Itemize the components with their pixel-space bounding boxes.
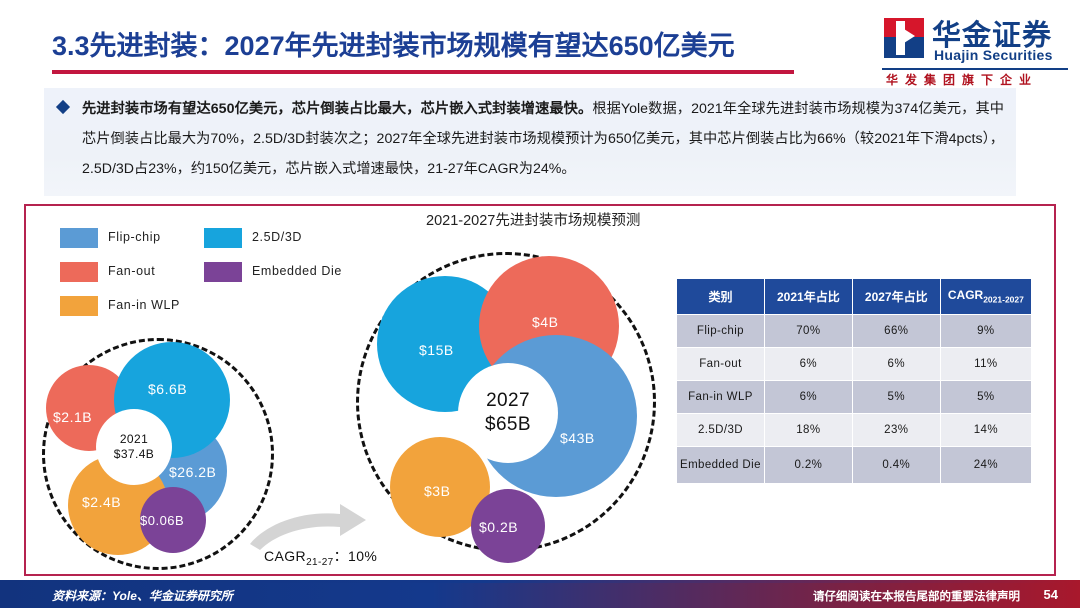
footer-bar: 资料来源：Yole、华金证券研究所 请仔细阅读在本报告尾部的重要法律声明 54 — [0, 583, 1080, 608]
bubble-label-2027-fan-out: $4B — [532, 314, 558, 330]
huajin-logo-mark-icon — [884, 18, 924, 58]
cell-share-2021: 6% — [764, 348, 852, 381]
cagr-value: ：10% — [334, 548, 378, 564]
cell-cagr: 11% — [940, 348, 1031, 381]
bubble-label-2027-embedded-die: $0.2B — [479, 519, 518, 535]
bubble-label-2021-flip-chip: $26.2B — [169, 464, 216, 480]
table-col-share-2027: 2027年占比 — [852, 279, 940, 315]
bubble-label-2027-fan-in-wlp: $3B — [424, 483, 450, 499]
cell-share-2021: 0.2% — [764, 447, 852, 484]
table-row: Flip-chip 70% 66% 9% — [677, 315, 1032, 348]
summary-paragraph: 先进封装市场有望达650亿美元，芯片倒装占比最大，芯片嵌入式封装增速最快。根据Y… — [82, 94, 1004, 184]
page-title: 3.3先进封装：2027年先进封装市场规模有望达650亿美元 — [52, 24, 735, 63]
table-row: Fan-out 6% 6% 11% — [677, 348, 1032, 381]
cell-share-2027: 23% — [852, 414, 940, 447]
bubble-2027-year: 2027 — [486, 389, 530, 413]
bubble-2027-total: 2027 $65B — [458, 363, 558, 463]
cagr-annotation: CAGR21-27：10% — [264, 546, 377, 568]
bubble-2021-year: 2021 — [120, 432, 148, 447]
table-row: Embedded Die 0.2% 0.4% 24% — [677, 447, 1032, 484]
legend-label-fan-out: Fan-out — [108, 264, 155, 278]
cell-cagr: 24% — [940, 447, 1031, 484]
legend-swatch-fan-in-wlp — [60, 296, 98, 316]
summary-text-block: 先进封装市场有望达650亿美元，芯片倒装占比最大，芯片嵌入式封装增速最快。根据Y… — [44, 88, 1016, 196]
cell-share-2027: 66% — [852, 315, 940, 348]
legend-label-flip-chip: Flip-chip — [108, 230, 161, 244]
cell-share-2021: 6% — [764, 381, 852, 414]
bubble-label-2027-flip-chip: $43B — [560, 430, 595, 446]
cagr-subscript: 21-27 — [306, 557, 334, 568]
cell-cagr: 14% — [940, 414, 1031, 447]
logo-tagline: 华发集团旗下企业 — [886, 71, 1038, 88]
share-cagr-table: 类别 2021年占比 2027年占比 CAGR2021-2027 Flip-ch… — [676, 278, 1032, 484]
footer-legal-note: 请仔细阅读在本报告尾部的重要法律声明 — [813, 588, 1020, 604]
table-col-cagr-prefix: CAGR — [948, 288, 983, 302]
bubble-2027-total-label: $65B — [485, 413, 531, 437]
logo-company-name-en: Huajin Securities — [934, 47, 1053, 63]
cell-category: Fan-in WLP — [677, 381, 765, 414]
table-row: 2.5D/3D 18% 23% 14% — [677, 414, 1032, 447]
legend-swatch-embedded-die — [204, 262, 242, 282]
cell-category: Embedded Die — [677, 447, 765, 484]
cell-share-2027: 5% — [852, 381, 940, 414]
bubble-label-2021-fan-out: $2.1B — [53, 409, 92, 425]
legend-label-embedded-die: Embedded Die — [252, 264, 342, 278]
bubble-label-2027-2-5d-3d: $15B — [419, 342, 454, 358]
bubble-2021-total-label: $37.4B — [114, 447, 154, 462]
cell-share-2021: 70% — [764, 315, 852, 348]
bubble-label-2021-fan-in-wlp: $2.4B — [82, 494, 121, 510]
table-col-cagr-sub: 2021-2027 — [983, 295, 1024, 305]
legend-swatch-fan-out — [60, 262, 98, 282]
table-col-category: 类别 — [677, 279, 765, 315]
diamond-bullet-icon — [56, 100, 70, 114]
cell-category: Fan-out — [677, 348, 765, 381]
legend-swatch-flip-chip — [60, 228, 98, 248]
cell-share-2021: 18% — [764, 414, 852, 447]
table-col-share-2021: 2021年占比 — [764, 279, 852, 315]
cell-share-2027: 0.4% — [852, 447, 940, 484]
cell-category: Flip-chip — [677, 315, 765, 348]
footer-page-number: 54 — [1044, 587, 1058, 602]
cell-cagr: 9% — [940, 315, 1031, 348]
cell-category: 2.5D/3D — [677, 414, 765, 447]
bubble-2021-total: 2021 $37.4B — [96, 409, 172, 485]
brand-logo: 华金证券 Huajin Securities 华发集团旗下企业 — [876, 14, 1072, 90]
legend-label-2-5d-3d: 2.5D/3D — [252, 230, 302, 244]
cell-cagr: 5% — [940, 381, 1031, 414]
table-col-cagr: CAGR2021-2027 — [940, 279, 1031, 315]
logo-divider — [882, 68, 1068, 70]
table-header-row: 类别 2021年占比 2027年占比 CAGR2021-2027 — [677, 279, 1032, 315]
footer-source: 资料来源：Yole、华金证券研究所 — [52, 587, 233, 604]
bubble-label-2021-embedded-die: $0.06B — [140, 513, 184, 528]
cell-share-2027: 6% — [852, 348, 940, 381]
title-underline-rule — [52, 70, 794, 74]
legend-label-fan-in-wlp: Fan-in WLP — [108, 298, 180, 312]
chart-title: 2021-2027先进封装市场规模预测 — [426, 209, 640, 230]
legend-swatch-2-5d-3d — [204, 228, 242, 248]
table-row: Fan-in WLP 6% 5% 5% — [677, 381, 1032, 414]
bubble-label-2021-2-5d-3d: $6.6B — [148, 381, 187, 397]
cagr-prefix: CAGR — [264, 548, 306, 564]
summary-lead: 先进封装市场有望达650亿美元，芯片倒装占比最大，芯片嵌入式封装增速最快。 — [82, 101, 592, 117]
